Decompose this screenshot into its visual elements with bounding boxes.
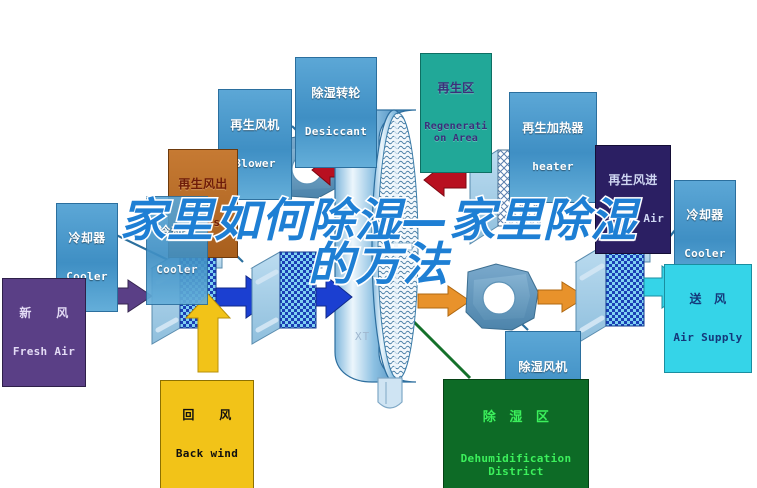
label-back-wind[interactable]: 回 风 Back wind xyxy=(160,380,254,488)
label-dehumidification-district-cn: 除 湿 区 xyxy=(446,411,586,425)
flow-wheel-to-blower xyxy=(418,286,470,316)
label-cooler-right-cn: 冷却器 xyxy=(677,209,733,222)
label-regeneration-heater[interactable]: 再生加热器 heater xyxy=(509,92,597,203)
label-dehumidification-district[interactable]: 除 湿 区 Dehumidification District xyxy=(443,379,589,488)
condensate-tray xyxy=(378,378,402,408)
label-back-wind-cn: 回 风 xyxy=(163,409,251,422)
label-air-supply[interactable]: 送 风 Air Supply xyxy=(664,264,752,373)
cooler-coil-2 xyxy=(252,252,322,344)
label-fresh-air-inlet-cn: 新 风 xyxy=(5,307,83,320)
label-exhaust-cn: 再生风出 xyxy=(171,178,235,191)
label-regeneration-fresh-air-cn: 再生风进 xyxy=(598,174,668,187)
process-fan xyxy=(466,264,538,330)
label-dehumidify-blower-cn: 除湿风机 xyxy=(508,361,578,374)
label-cooler-mid[interactable]: 冷却器 Cooler xyxy=(146,196,208,305)
label-regeneration-fresh-air[interactable]: 再生风进 Fresh Air xyxy=(595,145,671,254)
label-fresh-air-inlet-en: Fresh Air xyxy=(5,346,83,358)
label-air-supply-cn: 送 风 xyxy=(667,293,749,306)
label-back-wind-en: Back wind xyxy=(163,448,251,460)
dehumidifier-schematic-diagram: XT 除湿转轮 Desiccant 再生风机 Blower 再生风出 Exhau… xyxy=(0,0,757,488)
label-cooler-right-en: Cooler xyxy=(677,248,733,260)
label-air-supply-en: Air Supply xyxy=(667,332,749,344)
label-desiccant-wheel-en: Desiccant xyxy=(298,126,374,138)
label-dehumidification-district-en: Dehumidification District xyxy=(446,453,586,478)
label-regeneration-fresh-air-en: Fresh Air xyxy=(598,213,668,225)
rotor-marking: XT xyxy=(355,330,370,343)
label-desiccant-wheel-cn: 除湿转轮 xyxy=(298,87,374,100)
label-regeneration-area-cn: 再生区 xyxy=(423,82,489,95)
label-regeneration-blower-cn: 再生风机 xyxy=(221,119,289,132)
label-desiccant-wheel[interactable]: 除湿转轮 Desiccant xyxy=(295,57,377,168)
cooler-coil-3 xyxy=(576,244,650,344)
label-regeneration-heater-en: heater xyxy=(512,161,594,173)
label-regeneration-heater-cn: 再生加热器 xyxy=(512,122,594,135)
leader-line-dehumidification-district xyxy=(410,318,470,378)
label-cooler-left-cn: 冷却器 xyxy=(59,232,115,245)
label-regeneration-area[interactable]: 再生区 Regenerati on Area xyxy=(420,53,492,173)
label-cooler-mid-en: Cooler xyxy=(149,264,205,276)
label-fresh-air-inlet[interactable]: 新 风 Fresh Air xyxy=(2,278,86,387)
label-regeneration-area-en: Regenerati on Area xyxy=(423,121,489,145)
label-cooler-mid-cn: 冷却器 xyxy=(149,225,205,238)
